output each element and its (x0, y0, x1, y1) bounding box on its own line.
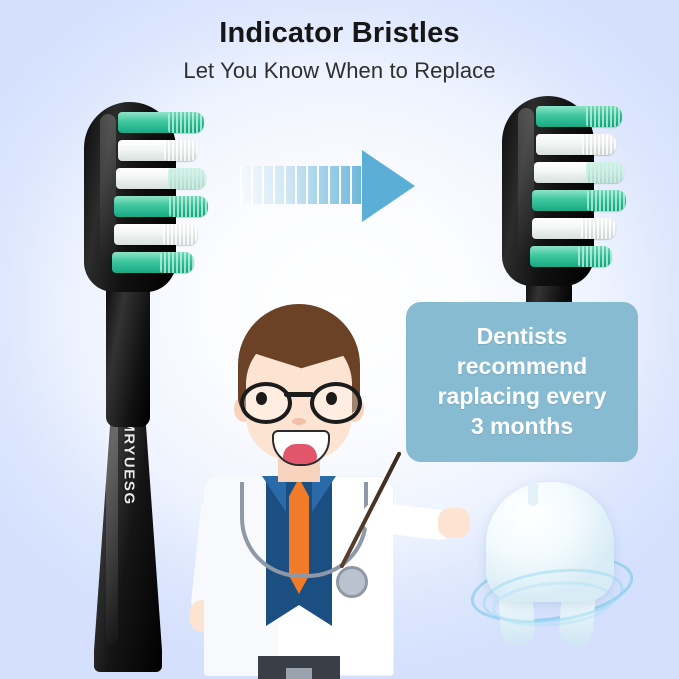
bristle-row (534, 162, 624, 183)
eye-right (326, 392, 337, 405)
bristle-row (536, 106, 622, 127)
trousers-highlight (286, 668, 312, 679)
right-arrow-icon (240, 150, 415, 222)
bristle-row (532, 190, 626, 211)
eye-left (256, 392, 267, 405)
tooth-cleft (528, 484, 538, 506)
tongue (283, 444, 317, 466)
bristle-tip (578, 246, 612, 267)
lens-left (240, 382, 292, 424)
bristle-tip (587, 190, 626, 211)
bristle-row (112, 252, 194, 273)
toothbrush-head-worn (500, 96, 630, 311)
bristle-row (536, 134, 616, 155)
bristle-row (118, 112, 204, 133)
callout-bubble: Dentists recommend raplacing every 3 mon… (406, 302, 638, 462)
toothbrush-neck (106, 277, 150, 427)
bristle-row (116, 168, 206, 189)
page-subtitle: Let You Know When to Replace (0, 58, 679, 84)
bristle-tip (168, 168, 206, 189)
glasses-bridge (284, 392, 314, 397)
dentist-character-icon (196, 300, 401, 679)
arrow-head (362, 150, 415, 222)
bristle-row (114, 196, 208, 217)
callout-text: Dentists recommend raplacing every 3 mon… (428, 322, 617, 442)
bristle-tip (163, 224, 198, 245)
stethoscope-bell (336, 566, 368, 598)
bristle-tip (164, 140, 198, 161)
bristle-tip (160, 252, 194, 273)
bristle-row (118, 140, 198, 161)
bristle-tip (169, 196, 208, 217)
lens-right (310, 382, 362, 424)
glasses-icon (240, 382, 358, 416)
bristle-tip (582, 134, 616, 155)
tooth-icon (468, 478, 633, 653)
handle-highlight (106, 414, 118, 644)
bristle-tip (586, 162, 624, 183)
arrow-tail (240, 166, 368, 204)
bristle-tip (168, 112, 204, 133)
bristle-row (114, 224, 198, 245)
bristle-tip (586, 106, 622, 127)
bristle-row (532, 218, 616, 239)
page-title: Indicator Bristles (0, 17, 679, 50)
nose (292, 418, 306, 425)
bristle-row (530, 246, 612, 267)
infographic-canvas: Indicator Bristles Let You Know When to … (0, 0, 679, 679)
right-hand (438, 508, 470, 538)
bristle-tip (581, 218, 616, 239)
